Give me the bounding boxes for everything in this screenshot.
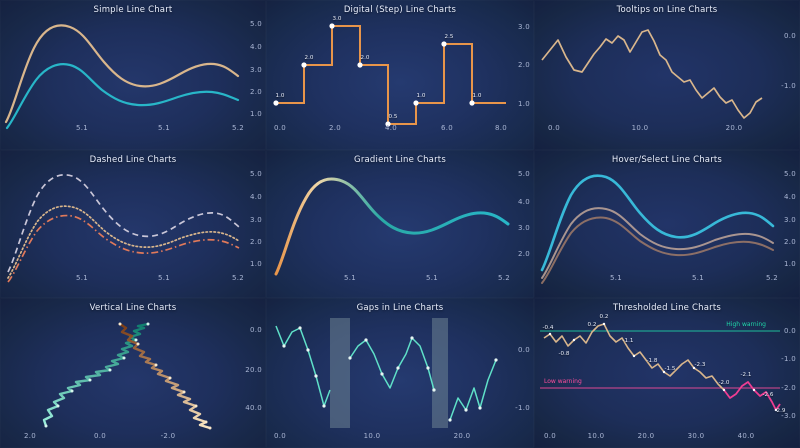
xtick: 5.1: [158, 124, 170, 132]
series-dim-2: [542, 218, 773, 283]
plot-area[interactable]: 5.0 4.0 3.0 2.0 5.1 5.1 5.2: [266, 150, 534, 298]
series-lower: [7, 64, 238, 128]
gap-band: [432, 318, 448, 428]
panel-digital-step-line-charts[interactable]: Digital (Step) Line Charts 1.0 2.0 3.0 2…: [266, 0, 534, 150]
xtick: 5.1: [692, 274, 704, 282]
gradient-series: [276, 179, 508, 274]
xtick: 5.2: [766, 274, 778, 282]
ytick: 40.0: [245, 404, 262, 412]
ytick: 3.0: [250, 216, 262, 224]
xtick: 0.0: [548, 124, 560, 132]
panel-gradient-line-charts[interactable]: Gradient Line Charts 5.0 4.0 3.0 2.0 5.1…: [266, 150, 534, 298]
xtick: 5.1: [158, 274, 170, 282]
xtick: 10.0: [364, 432, 381, 440]
ytick: 5.0: [250, 170, 262, 178]
hover-select-svg: [534, 150, 800, 298]
xtick: -2.0: [161, 432, 176, 440]
ytick: 5.0: [250, 20, 262, 28]
ytick: -1.0: [781, 355, 796, 363]
ytick: 3.0: [518, 23, 530, 31]
point-label: 1.0: [276, 93, 285, 99]
ytick: 1.0: [784, 260, 796, 268]
xtick: 5.2: [498, 274, 510, 282]
xtick: 5.1: [426, 274, 438, 282]
xtick: 5.1: [76, 274, 88, 282]
ytick: 3.0: [784, 216, 796, 224]
xtick: 40.0: [738, 432, 755, 440]
ytick: -1.0: [515, 404, 530, 412]
point-label: -2.1: [741, 372, 752, 378]
xtick: 5.1: [344, 274, 356, 282]
ytick: 0.0: [784, 327, 796, 335]
xtick: 10.0: [632, 124, 649, 132]
ytick: 0.0: [518, 346, 530, 354]
xtick: 0.0: [544, 432, 556, 440]
panel-simple-line-chart[interactable]: Simple Line Chart 5.0 4.0 3.0 2.0 1.0 5.…: [0, 0, 266, 150]
point-label: 2.5: [445, 34, 454, 40]
low-warning-label: Low warning: [544, 378, 582, 385]
series-highlighted: [542, 176, 773, 270]
ytick: 5.0: [518, 170, 530, 178]
point-label: -2.6: [763, 392, 774, 398]
xtick: 0.0: [94, 432, 106, 440]
ytick: 0.0: [784, 32, 796, 40]
ytick: 3.0: [250, 66, 262, 74]
point-label: 2.0: [361, 55, 370, 61]
ytick: 4.0: [518, 198, 530, 206]
point-label: 1.0: [473, 93, 482, 99]
vertical-line-svg: [0, 298, 266, 448]
xtick: 8.0: [495, 124, 507, 132]
ytick: -2.0: [781, 384, 796, 392]
series-dashdot: [8, 216, 239, 282]
xtick: 5.2: [232, 274, 244, 282]
ytick: 2.0: [250, 238, 262, 246]
ytick: -1.0: [781, 82, 796, 90]
tooltip-series: [542, 30, 762, 118]
point-label: -1.1: [623, 338, 634, 344]
tooltips-line-svg: [534, 0, 800, 150]
dashed-line-svg: [0, 150, 266, 298]
xtick: 0.0: [274, 432, 286, 440]
ytick: 3.0: [518, 224, 530, 232]
gap-series-c: [450, 360, 496, 420]
xtick: 6.0: [441, 124, 453, 132]
ytick: 1.0: [518, 100, 530, 108]
high-warning-label: High warning: [726, 321, 766, 328]
panel-gaps-in-line-charts[interactable]: Gaps in Line Charts 0.0 -1.0: [266, 298, 534, 448]
gap-band: [330, 318, 350, 428]
simple-line-svg: [0, 0, 266, 150]
point-label: -2.0: [719, 380, 730, 386]
gradient-line-svg: [266, 150, 534, 298]
panel-vertical-line-charts[interactable]: Vertical Line Charts: [0, 298, 266, 448]
xtick: 0.0: [274, 124, 286, 132]
gap-series-b: [350, 338, 434, 390]
point-label: 1.0: [417, 93, 426, 99]
gap-series-a: [276, 326, 330, 406]
step-line-svg: [266, 0, 534, 150]
ytick: 2.0: [518, 61, 530, 69]
plot-area[interactable]: 5.0 4.0 3.0 2.0 1.0 5.1 5.1 5.2: [534, 150, 800, 298]
ytick: -3.0: [781, 412, 796, 420]
point-label: -2.3: [695, 362, 706, 368]
point-label: -0.4: [543, 325, 554, 331]
ytick: 4.0: [250, 193, 262, 201]
panel-thresholded-line-charts[interactable]: Thresholded Line Charts High warning Low…: [534, 298, 800, 448]
xtick: 2.0: [329, 124, 341, 132]
point-label: -0.8: [559, 351, 570, 357]
xtick: 4.0: [385, 124, 397, 132]
xtick: 10.0: [588, 432, 605, 440]
series-dashed: [8, 175, 239, 272]
plot-area[interactable]: 5.0 4.0 3.0 2.0 1.0 5.1 5.1 5.2: [0, 0, 266, 150]
series-dim-1: [542, 208, 773, 278]
threshold-markers: [549, 323, 777, 411]
plot-area[interactable]: 0.0 -1.0 0.0 10.0 20.0: [266, 298, 534, 448]
ytick: 4.0: [250, 43, 262, 51]
xtick: 5.2: [232, 124, 244, 132]
panel-hover-select-line-charts[interactable]: Hover/Select Line Charts 5.0 4.0 3.0 2.0…: [534, 150, 800, 298]
ytick: 2.0: [250, 88, 262, 96]
ytick: 2.0: [784, 238, 796, 246]
teal-walk-line: [44, 324, 148, 426]
plot-area[interactable]: 0.0 -1.0 0.0 10.0 20.0: [534, 0, 800, 150]
plot-area[interactable]: 1.0 2.0 3.0 2.0 0.5 1.0 2.5 1.0 3.0 2.0 …: [266, 0, 534, 150]
plot-area[interactable]: 5.0 4.0 3.0 2.0 1.0 5.1 5.1 5.2: [0, 150, 266, 298]
ytick: 0.0: [250, 326, 262, 334]
xtick: 20.0: [638, 432, 655, 440]
point-label: 0.2: [588, 322, 597, 328]
xtick: 2.0: [24, 432, 36, 440]
ytick: 2.0: [518, 250, 530, 258]
xtick: 20.0: [454, 432, 471, 440]
xtick: 30.0: [688, 432, 705, 440]
point-label: -1.8: [647, 358, 658, 364]
step-path: [276, 26, 506, 124]
panel-tooltips-on-line-charts[interactable]: Tooltips on Line Charts 0.0 -1.0 0.0 10.…: [534, 0, 800, 150]
point-label: 0.2: [600, 314, 609, 320]
ytick: 5.0: [784, 170, 796, 178]
plot-area[interactable]: 0.0 20.0 40.0 2.0 0.0 -2.0: [0, 298, 266, 448]
ytick: 20.0: [245, 366, 262, 374]
ytick: 4.0: [784, 193, 796, 201]
series-dotted: [8, 206, 239, 278]
ytick: 1.0: [250, 110, 262, 118]
panel-dashed-line-charts[interactable]: Dashed Line Charts 5.0 4.0 3.0 2.0 1.0 5…: [0, 150, 266, 298]
gaps-line-svg: [266, 298, 534, 448]
point-label: -1.5: [665, 366, 676, 372]
xtick: 20.0: [726, 124, 743, 132]
xtick: 5.1: [610, 274, 622, 282]
point-label: 2.0: [305, 55, 314, 61]
ytick: 1.0: [250, 260, 262, 268]
plot-area[interactable]: High warning Low warning -0.4 -0.8 0.2 0…: [534, 298, 800, 448]
chart-grid: Simple Line Chart 5.0 4.0 3.0 2.0 1.0 5.…: [0, 0, 800, 448]
point-label: 3.0: [333, 16, 342, 22]
point-label: 0.5: [389, 114, 398, 120]
xtick: 5.1: [76, 124, 88, 132]
